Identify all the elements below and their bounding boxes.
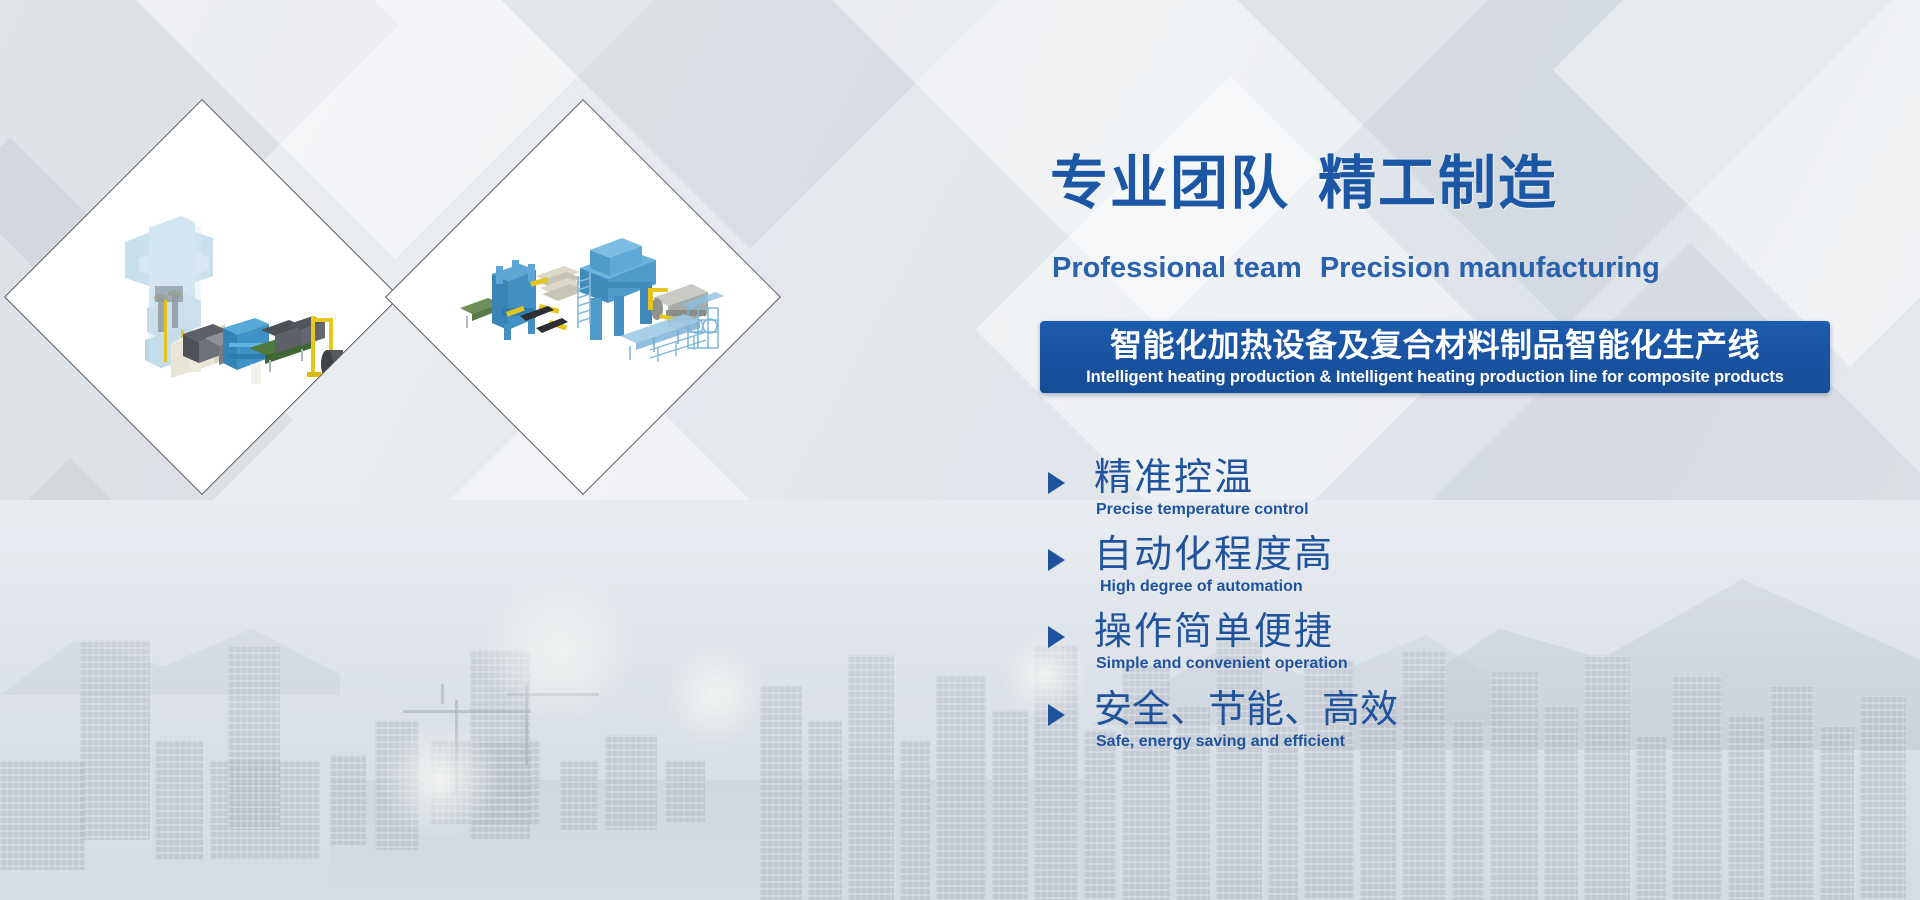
feature-4-english: Safe, energy saving and efficient — [1096, 733, 1345, 751]
triangle-right-icon — [1048, 549, 1065, 571]
highlight-bar: 智能化加热设备及复合材料制品智能化生产线 Intelligent heating… — [1040, 321, 1830, 393]
diamond-photo-press-line — [4, 99, 400, 495]
headline-en-part2: Precision manufacturing — [1320, 252, 1660, 284]
headline-en-part1: Professional team — [1052, 252, 1302, 284]
headline-cn-part1: 专业团队 — [1050, 151, 1290, 216]
feature-3-chinese: 操作简单便捷 — [1094, 611, 1334, 655]
triangle-right-icon — [1048, 626, 1065, 648]
highlight-bar-chinese: 智能化加热设备及复合材料制品智能化生产线 — [1110, 325, 1760, 365]
triangle-right-icon — [1048, 704, 1065, 726]
triangle-right-icon — [1048, 472, 1065, 494]
promo-banner: 专业团队精工制造 Professional teamPrecision manu… — [0, 0, 1920, 900]
feature-1-english: Precise temperature control — [1096, 501, 1309, 519]
headline-chinese: 专业团队精工制造 — [1050, 155, 1558, 213]
highlight-bar-english: Intelligent heating production & Intelli… — [1086, 368, 1784, 387]
feature-2-english: High degree of automation — [1100, 578, 1303, 596]
headline-english: Professional teamPrecision manufacturing — [1052, 252, 1660, 285]
feature-3-english: Simple and convenient operation — [1096, 655, 1348, 673]
feature-2-chinese: 自动化程度高 — [1094, 534, 1334, 578]
composite-line-render — [444, 158, 724, 438]
banner-text-column: 专业团队精工制造 Professional teamPrecision manu… — [1040, 0, 1920, 900]
feature-1-chinese: 精准控温 — [1094, 457, 1254, 501]
press-line-render — [63, 158, 343, 438]
headline-cn-part2: 精工制造 — [1318, 151, 1558, 216]
diamond-photo-composite-line — [385, 99, 781, 495]
feature-4-chinese: 安全、节能、高效 — [1094, 689, 1398, 733]
